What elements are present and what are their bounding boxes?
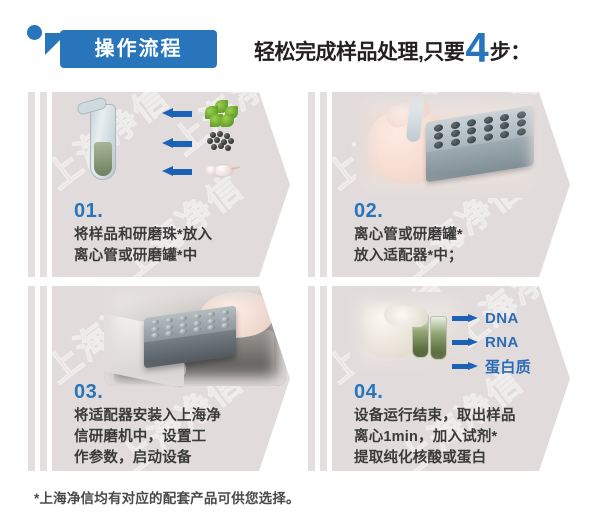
headline: 轻松完成样品处理,只要 4 步： xyxy=(254,28,531,74)
panel-body: 上海净信 上海净信 上海净信 DNA xyxy=(332,286,570,471)
headline-text-after: 步： xyxy=(490,36,531,66)
step-2-photo xyxy=(356,94,542,198)
step-1-text: 01. 将样品和研磨珠*放入 离心管或研磨罐*中 xyxy=(74,200,212,267)
output-row: RNA xyxy=(452,330,531,354)
step-1-illustration xyxy=(70,98,270,198)
step-description: 设备运行结束，取出样品 离心1min，加入试剂* 提取纯化核酸或蛋白 xyxy=(354,406,516,469)
step-line: 放入适配器*中； xyxy=(354,246,463,267)
panel-accent-bar-outer xyxy=(308,286,315,471)
step-number: 03. xyxy=(74,381,221,404)
tube-liquid xyxy=(94,142,112,176)
output-label: 蛋白质 xyxy=(485,356,531,377)
step-2-text: 02. 离心管或研磨罐* 放入适配器*中； xyxy=(354,200,463,267)
headline-text-before: 轻松完成样品处理,只要 xyxy=(254,36,464,66)
step-number: 01. xyxy=(74,200,212,223)
sample-arrow-row xyxy=(162,138,192,148)
panel-body: 上海净信 上海净信 上海净信 xyxy=(52,286,290,471)
step-panel-1: 上海净信 上海净信 上海净信 xyxy=(28,92,290,277)
headline-step-count: 4 xyxy=(464,31,489,65)
beads-icon xyxy=(204,130,238,156)
arrow-left-icon xyxy=(162,138,192,148)
panel-body: 上海净信 上海净信 上海净信 xyxy=(52,92,290,277)
arrow-left-icon xyxy=(162,108,192,118)
step-panel-2: 上海净信 上海净信 上海净信 xyxy=(308,92,570,277)
plant-icon xyxy=(204,100,238,126)
output-row: 蛋白质 xyxy=(452,354,531,378)
output-label: DNA xyxy=(485,310,519,327)
centrifuge-tube-icon xyxy=(90,104,116,180)
banner-label: 操作流程 xyxy=(95,39,183,59)
panel-accent-bar-inner xyxy=(320,92,327,277)
panel-accent-bar-inner xyxy=(40,92,47,277)
sample-arrow-row xyxy=(162,108,192,118)
step-line: 信研磨机中，设置工 xyxy=(74,427,221,448)
step-line: 离心管或研磨罐* xyxy=(354,225,463,246)
section-banner: 操作流程 xyxy=(60,30,217,68)
sample-arrow-row xyxy=(162,166,192,176)
step-description: 离心管或研磨罐* 放入适配器*中； xyxy=(354,225,463,267)
step-description: 将样品和研磨珠*放入 离心管或研磨罐*中 xyxy=(74,225,212,267)
header: 操作流程 轻松完成样品处理,只要 4 步： xyxy=(0,0,600,88)
footer-note: *上海净信均有对应的配套产品可供您选择。 xyxy=(34,487,554,507)
step-line: 离心管或研磨罐*中 xyxy=(74,246,212,267)
step-description: 将适配器安装入上海净 信研磨机中，设置工 作参数，启动设备 xyxy=(74,406,221,469)
footer: *上海净信均有对应的配套产品可供您选择。 xyxy=(34,487,554,507)
banner-dot-icon xyxy=(27,25,42,40)
step-panel-4: 上海净信 上海净信 上海净信 DNA xyxy=(308,286,570,471)
step-number: 02. xyxy=(354,200,463,223)
step-4-outputs: DNA RNA 蛋白质 xyxy=(452,306,531,378)
step-line: 作参数，启动设备 xyxy=(74,448,221,469)
panel-accent-bar-inner xyxy=(320,286,327,471)
step-line: 将适配器安装入上海净 xyxy=(74,406,221,427)
arrow-right-icon xyxy=(452,314,478,323)
panel-body: 上海净信 上海净信 上海净信 xyxy=(332,92,570,277)
step-4-photo xyxy=(350,292,468,374)
output-row: DNA xyxy=(452,306,531,330)
step-3-text: 03. 将适配器安装入上海净 信研磨机中，设置工 作参数，启动设备 xyxy=(74,381,221,469)
panel-accent-bar-outer xyxy=(308,92,315,277)
step-line: 提取纯化核酸或蛋白 xyxy=(354,448,516,469)
step-4-text: 04. 设备运行结束，取出样品 离心1min，加入试剂* 提取纯化核酸或蛋白 xyxy=(354,381,516,469)
tube-cap xyxy=(76,96,108,116)
arrow-right-icon xyxy=(452,338,478,347)
step-panel-3: 上海净信 上海净信 上海净信 xyxy=(28,286,290,471)
step-line: 离心1min，加入试剂* xyxy=(354,427,516,448)
step-number: 04. xyxy=(354,381,516,404)
infographic-page: 操作流程 轻松完成样品处理,只要 4 步： 上海净信 上海净信 上海净信 xyxy=(0,0,600,526)
step-line: 设备运行结束，取出样品 xyxy=(354,406,516,427)
panel-accent-bar-outer xyxy=(28,92,35,277)
panel-accent-bar-outer xyxy=(28,286,35,471)
mouse-icon xyxy=(204,158,238,184)
output-label: RNA xyxy=(485,334,519,351)
panel-accent-bar-inner xyxy=(40,286,47,471)
step-line: 将样品和研磨珠*放入 xyxy=(74,225,212,246)
arrow-left-icon xyxy=(162,166,192,176)
step-3-photo xyxy=(104,286,286,386)
steps-grid: 上海净信 上海净信 上海净信 xyxy=(0,88,600,468)
arrow-right-icon xyxy=(452,362,478,371)
